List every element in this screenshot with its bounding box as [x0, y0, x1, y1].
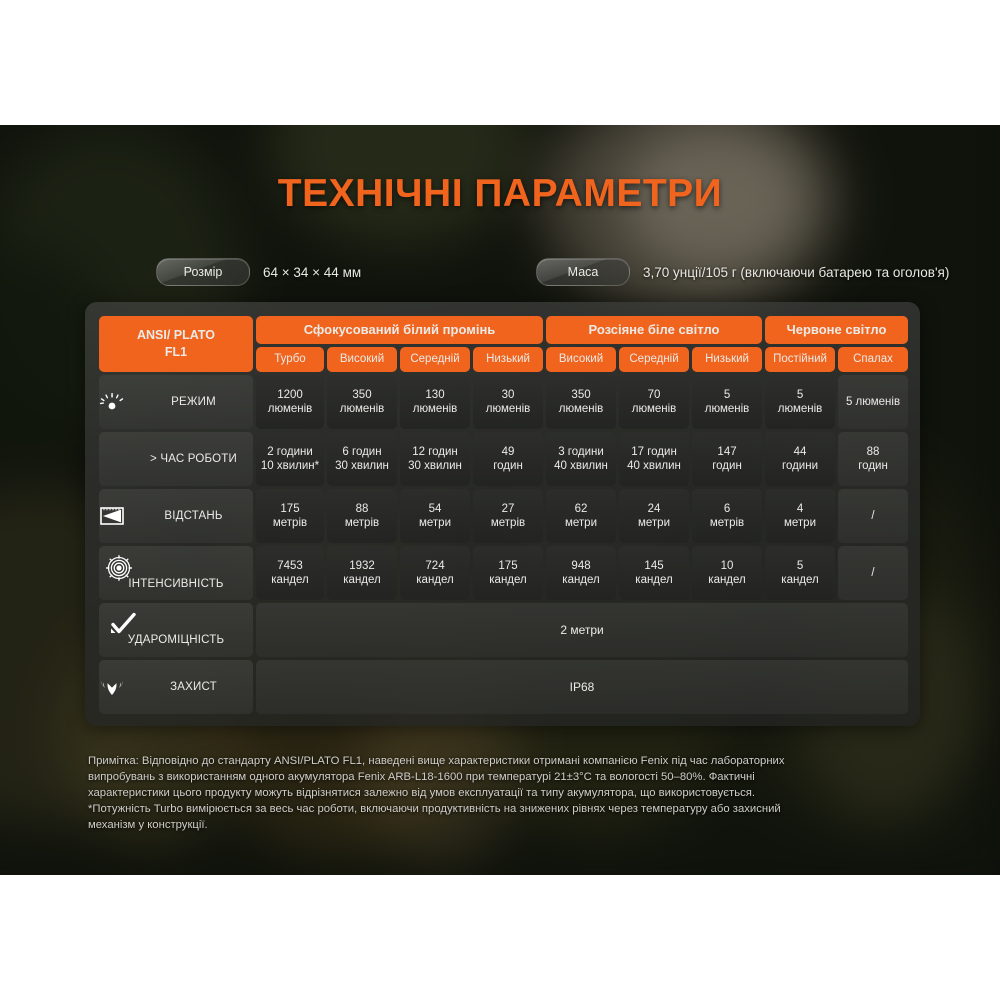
- corner-line-2: FL1: [165, 345, 187, 359]
- table-cell: 62метри: [546, 489, 616, 543]
- mode-header-turbo: Турбо: [256, 347, 324, 372]
- table-row: РЕЖИМ 1200люменів 350люменів 130люменів …: [99, 375, 908, 429]
- mode-header-medium-focused: Середній: [400, 347, 470, 372]
- group-header-focused-white: Сфокусований білий промінь: [256, 316, 543, 344]
- intensity-target-icon: [105, 555, 131, 579]
- mode-header-high-diffused: Високий: [546, 347, 616, 372]
- table-row: ЗАХИСТ IP68: [99, 660, 908, 714]
- table-cell: 5люменів: [692, 375, 762, 429]
- table-row: > ЧАС РОБОТИ 2 години10 хвилин* 6 годин3…: [99, 432, 908, 486]
- table-cell: /: [838, 489, 908, 543]
- spec-table: ANSI/ PLATO FL1 Сфокусований білий промі…: [96, 313, 911, 717]
- table-cell: 30люменів: [473, 375, 543, 429]
- runtime-icon: [99, 447, 125, 471]
- mode-header-high-focused: Високий: [327, 347, 397, 372]
- spec-mass-label: Маса: [536, 258, 630, 286]
- table-cell: 24метри: [619, 489, 689, 543]
- table-cell: 175кандел: [473, 546, 543, 600]
- mode-header-red-flash: Спалах: [838, 347, 908, 372]
- impact-value-cell: 2 метри: [256, 603, 908, 657]
- table-row: ІНТЕНСИВНІСТЬ 7453кандел 1932кандел 724к…: [99, 546, 908, 600]
- footnote-line-1: Примітка: Відповідно до стандарту ANSI/P…: [88, 753, 912, 769]
- spec-table-panel: ANSI/ PLATO FL1 Сфокусований білий промі…: [85, 302, 920, 726]
- table-row: УДАРОМІЦНІСТЬ 2 метри: [99, 603, 908, 657]
- group-header-diffused-white: Розсіяне біле світло: [546, 316, 762, 344]
- row-label-output: РЕЖИМ: [99, 375, 253, 429]
- row-label-distance-text: ВІДСТАНЬ: [134, 509, 253, 523]
- footnote: Примітка: Відповідно до стандарту ANSI/P…: [88, 753, 912, 833]
- page-title: ТЕХНІЧНІ ПАРАМЕТРИ: [0, 172, 1000, 216]
- table-corner-header: ANSI/ PLATO FL1: [99, 316, 253, 372]
- waterproof-icon: [99, 675, 125, 699]
- table-cell: 44години: [765, 432, 835, 486]
- table-cell: 724кандел: [400, 546, 470, 600]
- group-header-red-light: Червоне світло: [765, 316, 908, 344]
- table-cell: 88метрів: [327, 489, 397, 543]
- sunburst-icon: [99, 390, 125, 414]
- spec-size: Розмір 64 × 34 × 44 мм: [156, 258, 361, 286]
- table-cell: 6метрів: [692, 489, 762, 543]
- footnote-line-4: *Потужність Turbo вимірюється за весь ча…: [88, 801, 912, 817]
- table-cell: 948кандел: [546, 546, 616, 600]
- row-label-intensity: ІНТЕНСИВНІСТЬ: [99, 546, 253, 600]
- table-cell: 5 люменів: [838, 375, 908, 429]
- spec-size-value: 64 × 34 × 44 мм: [263, 265, 361, 280]
- table-cell: 3 години40 хвилин: [546, 432, 616, 486]
- table-cell: 350люменів: [327, 375, 397, 429]
- footnote-line-5: механізм у конструкції.: [88, 817, 912, 833]
- footnote-line-2: випробувань з використанням одного акуму…: [88, 769, 912, 785]
- mode-header-low-focused: Низький: [473, 347, 543, 372]
- spec-size-label: Розмір: [156, 258, 250, 286]
- table-cell: 7453кандел: [256, 546, 324, 600]
- table-cell: 17 годин40 хвилин: [619, 432, 689, 486]
- row-label-distance: ВІДСТАНЬ: [99, 489, 253, 543]
- table-cell: 2 години10 хвилин*: [256, 432, 324, 486]
- table-cell: 12 годин30 хвилин: [400, 432, 470, 486]
- table-cell: 27метрів: [473, 489, 543, 543]
- table-cell: 54метри: [400, 489, 470, 543]
- mode-header-low-diffused: Низький: [692, 347, 762, 372]
- table-cell: 130люменів: [400, 375, 470, 429]
- table-cell: 5кандел: [765, 546, 835, 600]
- table-cell: 147годин: [692, 432, 762, 486]
- row-label-impact: УДАРОМІЦНІСТЬ: [99, 603, 253, 657]
- table-group-header-row: ANSI/ PLATO FL1 Сфокусований білий промі…: [99, 316, 908, 344]
- footnote-line-3: характеристики цього продукту можуть від…: [88, 785, 912, 801]
- spec-summary-row: Розмір 64 × 34 × 44 мм Маса 3,70 унції/1…: [0, 258, 1000, 284]
- row-label-waterproof-text: ЗАХИСТ: [134, 680, 253, 694]
- spec-mass: Маса 3,70 унції/105 г (включаючи батарею…: [536, 258, 949, 286]
- waterproof-value-cell: IP68: [256, 660, 908, 714]
- table-cell: 1932кандел: [327, 546, 397, 600]
- table-cell: 145кандел: [619, 546, 689, 600]
- table-cell: 350люменів: [546, 375, 616, 429]
- table-cell: /: [838, 546, 908, 600]
- table-cell: 10кандел: [692, 546, 762, 600]
- row-label-waterproof: ЗАХИСТ: [99, 660, 253, 714]
- table-cell: 1200люменів: [256, 375, 324, 429]
- mode-header-red-constant: Постійний: [765, 347, 835, 372]
- spec-sheet-page: ТЕХНІЧНІ ПАРАМЕТРИ Розмір 64 × 34 × 44 м…: [0, 0, 1000, 1000]
- table-cell: 49годин: [473, 432, 543, 486]
- row-label-runtime: > ЧАС РОБОТИ: [99, 432, 253, 486]
- row-label-runtime-text: > ЧАС РОБОТИ: [134, 452, 253, 466]
- table-cell: 88годин: [838, 432, 908, 486]
- corner-line-1: ANSI/ PLATO: [137, 328, 215, 342]
- table-cell: 6 годин30 хвилин: [327, 432, 397, 486]
- spec-mass-value: 3,70 унції/105 г (включаючи батарею та о…: [643, 265, 949, 280]
- row-label-output-text: РЕЖИМ: [134, 395, 253, 409]
- mode-header-medium-diffused: Середній: [619, 347, 689, 372]
- table-row: ВІДСТАНЬ 175метрів 88метрів 54метри 27ме…: [99, 489, 908, 543]
- table-cell: 70люменів: [619, 375, 689, 429]
- table-cell: 4метри: [765, 489, 835, 543]
- beam-distance-icon: [99, 504, 125, 528]
- table-cell: 5люменів: [765, 375, 835, 429]
- table-cell: 175метрів: [256, 489, 324, 543]
